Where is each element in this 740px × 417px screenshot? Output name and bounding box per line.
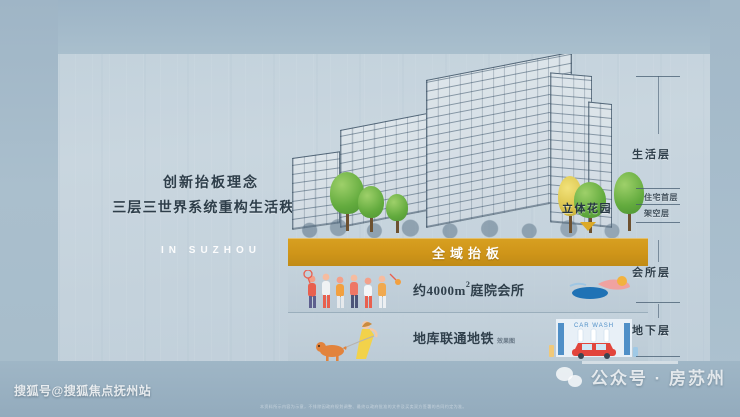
- scale-line: [658, 240, 659, 262]
- watermark-wechat-text: 公众号 · 房苏州: [591, 364, 726, 389]
- scale-tick: [636, 188, 680, 189]
- layer-scale: 生活层 住宅首层 架空层 会所层 地下层: [630, 54, 710, 361]
- legal-fineprint: 本资料所示内容为示意，不排除因政府规划调整、最终以政府批准的文件及买卖双方签署的…: [260, 404, 467, 410]
- scale-line: [658, 76, 659, 134]
- tree-icon: [386, 194, 408, 232]
- scale-label-clubhouse: 会所层: [632, 264, 708, 280]
- illustration-block: 全域抬板: [288, 54, 648, 361]
- frame-band-left: [0, 0, 58, 417]
- gold-banner: 全域抬板: [288, 238, 648, 266]
- dog-walker-icon: [312, 319, 402, 359]
- subway-label: 地库联通地铁效果图: [413, 328, 515, 347]
- scale-label-life: 生活层: [632, 146, 708, 162]
- svg-text:CAR WASH: CAR WASH: [574, 323, 614, 329]
- scale-tick: [636, 302, 680, 303]
- callout-vertical-garden: 立体花园: [562, 200, 612, 216]
- scale-label-basement: 地下层: [632, 322, 708, 338]
- scale-line: [658, 304, 659, 318]
- subway-label-note: 效果图: [497, 339, 515, 345]
- strip-clubhouse: 约4000m2庭院会所: [288, 266, 648, 313]
- scale-label-stilt: 架空层: [644, 208, 710, 219]
- clubhouse-label: 约4000m2庭院会所: [413, 280, 524, 299]
- scale-tick: [636, 356, 680, 357]
- scale-tick: [636, 204, 680, 205]
- people-group-icon: [298, 270, 408, 310]
- wechat-icon: [556, 366, 582, 387]
- watermark-sohu: 搜狐号@搜狐焦点抚州站: [14, 382, 151, 399]
- strip-subway: 地库联通地铁效果图 CAR WASH: [288, 313, 648, 361]
- gold-banner-label: 全域抬板: [432, 243, 504, 262]
- watermark-sohu-text: 搜狐号@搜狐焦点抚州站: [14, 382, 151, 399]
- frame-band-right: [710, 0, 740, 417]
- triangle-down-icon: [580, 222, 596, 231]
- slide-canvas: 创新抬板理念 三层三世界系统重构生活秩序 IN SUZHOU: [0, 0, 740, 417]
- frame-band-top: [0, 0, 740, 54]
- car-wash-icon: CAR WASH: [548, 317, 640, 359]
- tree-icon: [358, 186, 384, 231]
- watermark-wechat: 公众号 · 房苏州: [556, 364, 726, 389]
- scale-label-ground-floor: 住宅首层: [644, 192, 710, 203]
- slide-page: 创新抬板理念 三层三世界系统重构生活秩序 IN SUZHOU: [58, 54, 710, 361]
- scale-tick: [636, 222, 680, 223]
- swimmer-icon: [564, 273, 634, 303]
